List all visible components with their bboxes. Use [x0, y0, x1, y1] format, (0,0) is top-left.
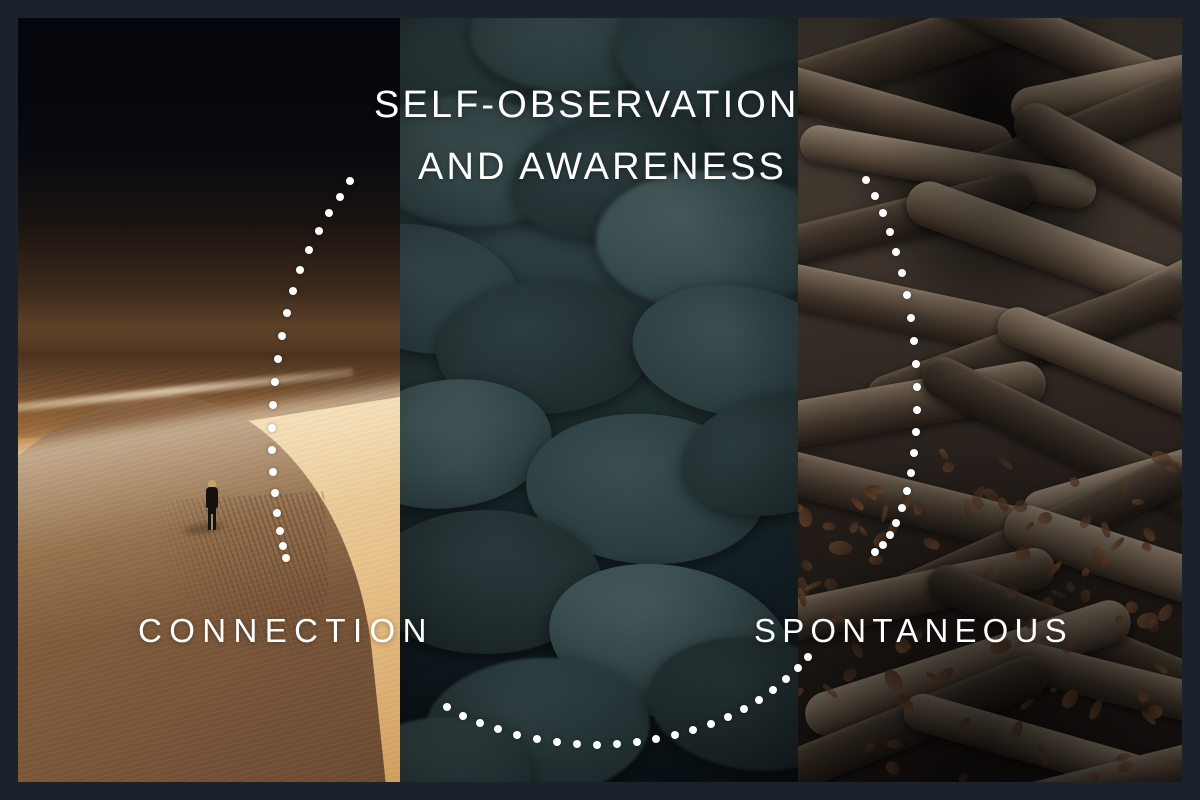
desert-sand-texture: [18, 369, 400, 782]
panel-desert: [18, 18, 400, 782]
pond-vignette: [400, 18, 798, 782]
lone-person-figure: [204, 480, 220, 532]
panel-pond: [400, 18, 798, 782]
person-torso: [206, 487, 218, 508]
person-leg-gap: [211, 514, 213, 530]
roots-color-tint: [798, 18, 1182, 782]
poster-canvas: SELF-OBSERVATION AND AWARENESS CONNECTIO…: [0, 0, 1200, 800]
poster-image-frame: SELF-OBSERVATION AND AWARENESS CONNECTIO…: [18, 18, 1182, 782]
panel-roots: [798, 18, 1182, 782]
